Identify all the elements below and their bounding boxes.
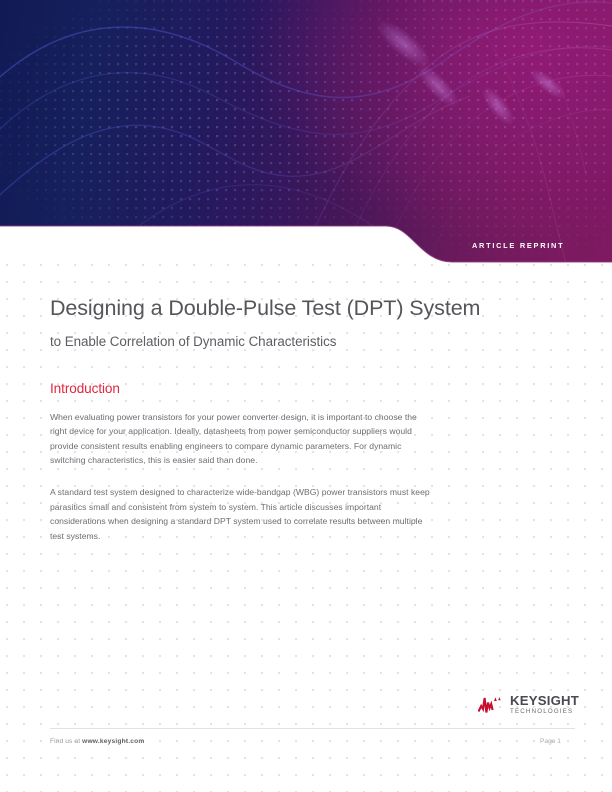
logo-wordmark: KEYSIGHT TECHNOLOGIES (510, 694, 579, 715)
article-reprint-tag: ARTICLE REPRINT (472, 241, 564, 250)
page-title: Designing a Double-Pulse Test (DPT) Syst… (50, 296, 566, 322)
keysight-waveform-icon (478, 695, 504, 715)
section-heading-introduction: Introduction (50, 381, 566, 396)
body-paragraph: When evaluating power transistors for yo… (50, 410, 432, 468)
logo-tagline: TECHNOLOGIES (510, 709, 579, 715)
page-number: Page 1 (540, 738, 561, 745)
hero-curve-cutout (0, 0, 612, 264)
footer-find-us: Find us at www.keysight.com (50, 738, 144, 745)
hero-banner: ARTICLE REPRINT (0, 0, 612, 264)
keysight-logo: KEYSIGHT TECHNOLOGIES (478, 694, 579, 715)
logo-name: KEYSIGHT (510, 694, 579, 707)
footer-find-us-prefix: Find us at (50, 738, 82, 745)
footer-website-url[interactable]: www.keysight.com (82, 738, 144, 745)
document-content: Designing a Double-Pulse Test (DPT) Syst… (50, 296, 566, 543)
document-page: ARTICLE REPRINT Designing a Double-Pulse… (0, 0, 612, 792)
footer-divider (50, 728, 575, 729)
body-paragraph: A standard test system designed to chara… (50, 485, 432, 543)
page-subtitle: to Enable Correlation of Dynamic Charact… (50, 334, 566, 351)
